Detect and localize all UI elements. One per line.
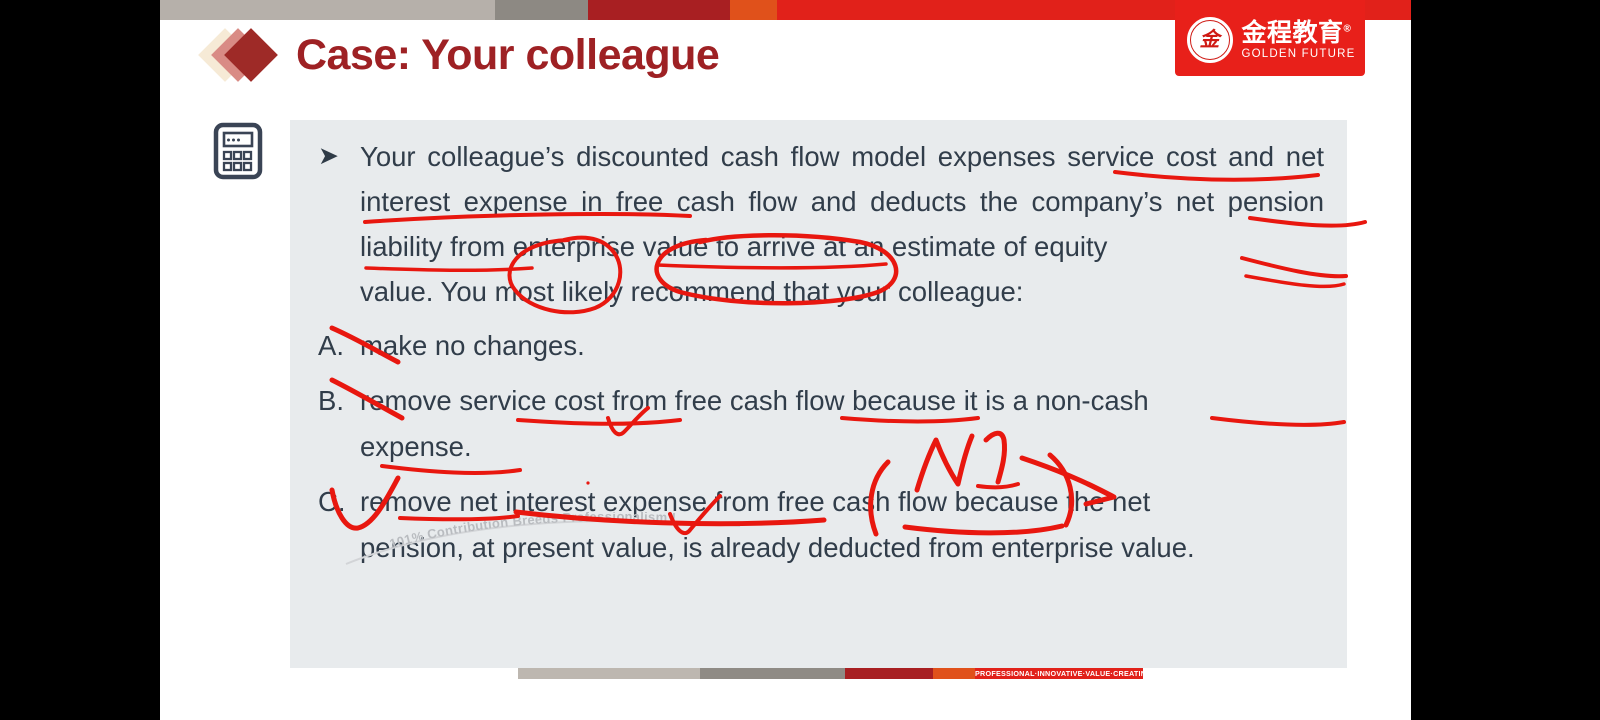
option-a[interactable]: A. make no changes. [312,323,1324,369]
bottom-strip-segment-medium-gray [700,668,845,679]
question-block: ➤ Your colleague’s discounted cash flow … [312,134,1324,571]
option-c-line-1: remove net interest expense from free ca… [360,486,1150,517]
option-b[interactable]: B. remove service cost from free cash fl… [312,378,1324,470]
top-strip-segment-dark-red [588,0,730,20]
bottom-strip-segment-dark-red [845,668,933,679]
diamond-logo-icon [204,26,282,84]
stem-line-4: value. You most likely recommend that yo… [360,269,1324,314]
question-panel: ➤ Your colleague’s discounted cash flow … [290,120,1347,668]
top-strip-segment-light-gray [160,0,495,20]
seal-mark: 金 [1200,30,1220,50]
option-b-line-2: expense. [360,424,1324,470]
option-c-text: remove net interest expense from free ca… [360,479,1324,571]
option-b-label: B. [312,378,360,424]
option-a-text: make no changes. [360,323,1324,369]
calculator-icon [212,122,264,180]
question-stem: ➤ Your colleague’s discounted cash flow … [312,134,1324,314]
registered-mark: ® [1344,24,1352,35]
letterbox-left [0,0,160,720]
option-c-label: C. [312,479,360,525]
letterbox-right [1411,0,1600,720]
slide-title-row: Case: Your colleague [204,26,719,84]
option-b-line-1: remove service cost from free cash flow … [360,385,1149,416]
brand-logo-block: 金 金程教育® GOLDEN FUTURE [1175,0,1365,76]
stem-line-1: Your colleague’s discounted cash flow mo… [360,141,1274,172]
bottom-strip-segment-tagline: PROFESSIONAL·INNOVATIVE·VALUE·CREATING [975,668,1143,679]
bottom-color-strip: PROFESSIONAL·INNOVATIVE·VALUE·CREATING [518,668,1143,679]
top-strip-segment-orange [730,0,777,20]
presentation-slide: 金 金程教育® GOLDEN FUTURE Case: Your colleag… [160,0,1411,720]
option-a-label: A. [312,323,360,369]
page-title: Case: Your colleague [296,31,719,80]
bottom-strip-segment-light-gray [518,668,700,679]
question-stem-text: Your colleague’s discounted cash flow mo… [360,134,1324,314]
brand-name-cn-text: 金程教育 [1242,19,1344,47]
option-a-line-1: make no changes. [360,323,1324,369]
option-c-line-2: pension, at present value, is already de… [360,525,1324,571]
option-b-text: remove service cost from free cash flow … [360,378,1324,470]
footer-tagline: PROFESSIONAL·INNOVATIVE·VALUE·CREATING [975,668,1143,679]
brand-text: 金程教育® GOLDEN FUTURE [1242,20,1356,60]
golden-future-seal-icon: 金 [1185,15,1235,65]
top-strip-segment-medium-gray [495,0,588,20]
option-c[interactable]: C. remove net interest expense from free… [312,479,1324,571]
brand-name-en: GOLDEN FUTURE [1242,48,1356,60]
brand-name-cn: 金程教育® [1242,20,1356,46]
video-player-frame: 金 金程教育® GOLDEN FUTURE Case: Your colleag… [0,0,1600,720]
bottom-strip-segment-orange [933,668,975,679]
bullet-arrow-icon: ➤ [312,134,360,179]
